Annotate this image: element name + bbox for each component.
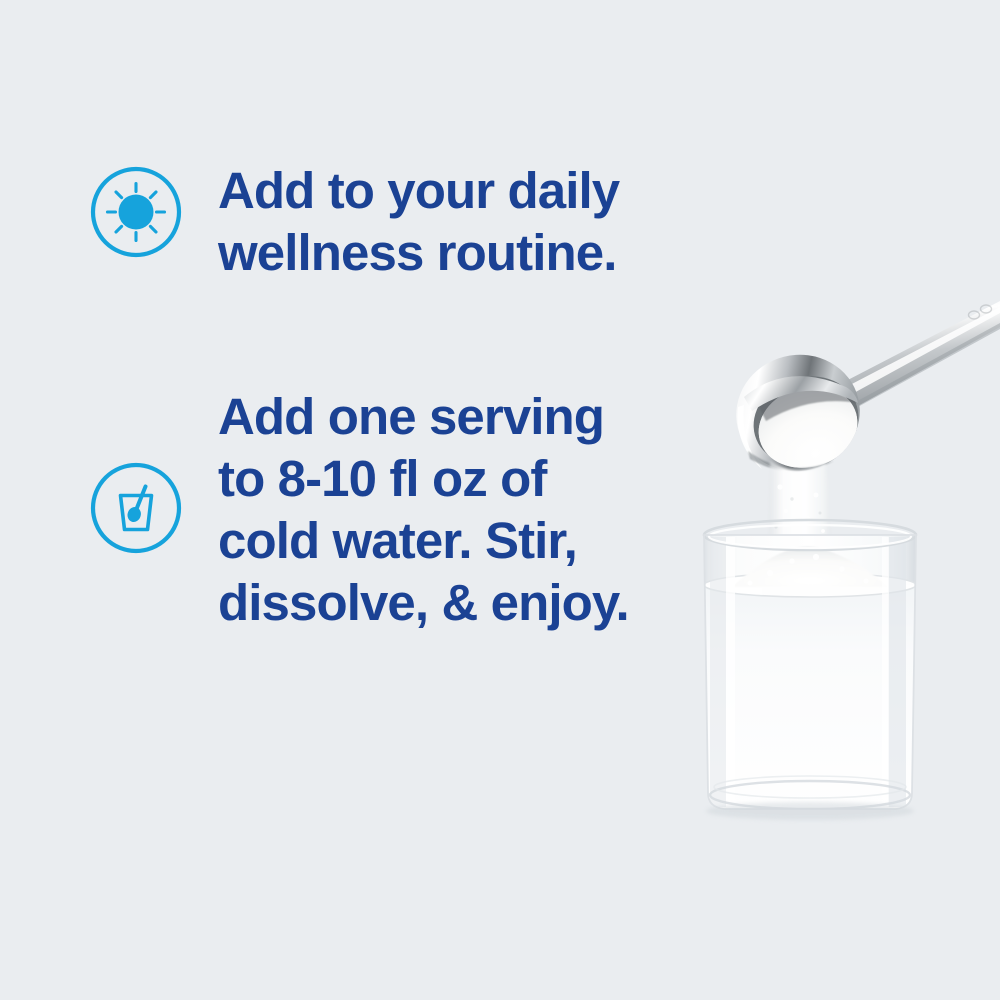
instruction-text-mixing: Add one serving to 8-10 fl oz of cold wa… [218,386,629,634]
instruction-row-daily-routine: Add to your daily wellness routine. [90,166,619,284]
drinking-glass [704,520,918,815]
scoop-handle [842,301,1000,408]
instruction-text-daily-routine: Add to your daily wellness routine. [218,160,619,284]
measuring-scoop-bowl [724,342,872,485]
glass-with-spoon-icon [90,462,182,554]
instruction-row-mixing: Add one serving to 8-10 fl oz of cold wa… [90,390,629,634]
sun-icon [90,166,182,258]
product-instructions-panel: Add to your daily wellness routine. Add … [0,0,1000,1000]
scoop-pouring-powder-into-glass-photo [620,255,1000,835]
